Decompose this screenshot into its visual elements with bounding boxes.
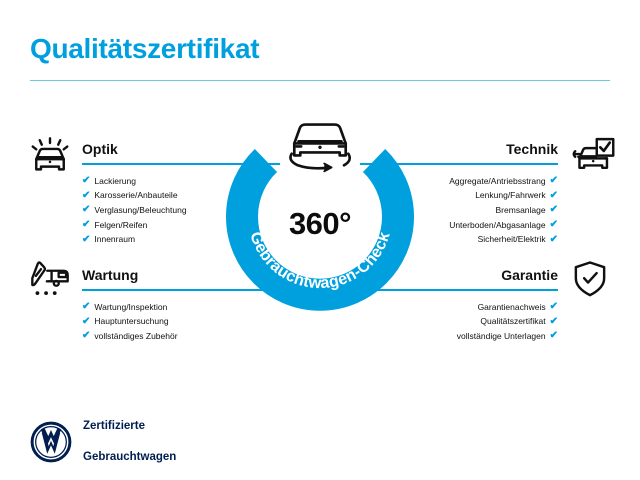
list-item-label: vollständiges Zubehör [94,329,177,344]
car-shine-icon [28,136,72,176]
list-item-label: Verglasung/Beleuchtung [94,203,186,218]
wrench-car-icon [28,259,72,299]
list-item-label: Lenkung/Fahrwerk [475,188,545,203]
check-icon: ✔ [82,191,90,201]
list-item-label: Qualitätszertifikat [480,314,545,329]
check-icon: ✔ [82,176,90,186]
certificate-sheet: Qualitätszertifikat Optik ✔Lackierung ✔K… [0,0,640,480]
list-item: vollständige Unterlagen✔ [360,329,558,344]
check-icon: ✔ [550,317,558,327]
list-item-label: vollständige Unterlagen [457,329,546,344]
vw-logo-icon [30,421,72,463]
list-item-label: Unterboden/Abgasanlage [449,218,545,233]
title-divider [30,80,610,81]
list-item-label: Aggregate/Antriebsstrang [449,174,545,189]
title-block: Qualitätszertifikat [30,34,610,81]
check-icon: ✔ [550,302,558,312]
list-item: Qualitätszertifikat✔ [360,314,558,329]
list-item-label: Lackierung [94,174,136,189]
list-item: ✔Hauptuntersuchung [82,314,280,329]
check-icon: ✔ [82,302,90,312]
list-item-label: Hauptuntersuchung [94,314,168,329]
check-icon: ✔ [82,205,90,215]
list-item-label: Garantienachweis [478,300,546,315]
check-icon: ✔ [550,235,558,245]
page-title: Qualitätszertifikat [30,34,610,63]
check-icon: ✔ [550,191,558,201]
badge-360-check: Gebrauchtwagen-Check 360° [222,118,418,314]
car-rotate-icon [277,116,363,176]
list-item-label: Felgen/Reifen [94,218,147,233]
list-item-label: Karosserie/Anbauteile [94,188,177,203]
car-checkbox-icon [572,136,616,176]
check-icon: ✔ [550,220,558,230]
check-icon: ✔ [82,331,90,341]
vw-brand-lockup: Zertifizierte Gebrauchtwagen [30,404,176,480]
check-icon: ✔ [82,220,90,230]
brand-line-2: Gebrauchtwagen [83,450,176,465]
check-icon: ✔ [550,331,558,341]
list-item: ✔vollständiges Zubehör [82,329,280,344]
check-icon: ✔ [82,235,90,245]
list-item-label: Wartung/Inspektion [94,300,167,315]
list-item-label: Innenraum [94,232,135,247]
shield-check-icon [568,259,612,299]
list-item-label: Sicherheit/Elektrik [478,232,546,247]
check-icon: ✔ [550,176,558,186]
check-icon: ✔ [550,205,558,215]
list-item-label: Bremsanlage [496,203,546,218]
check-icon: ✔ [82,317,90,327]
brand-line-1: Zertifizierte [83,419,176,434]
brand-text: Zertifizierte Gebrauchtwagen [83,404,176,480]
